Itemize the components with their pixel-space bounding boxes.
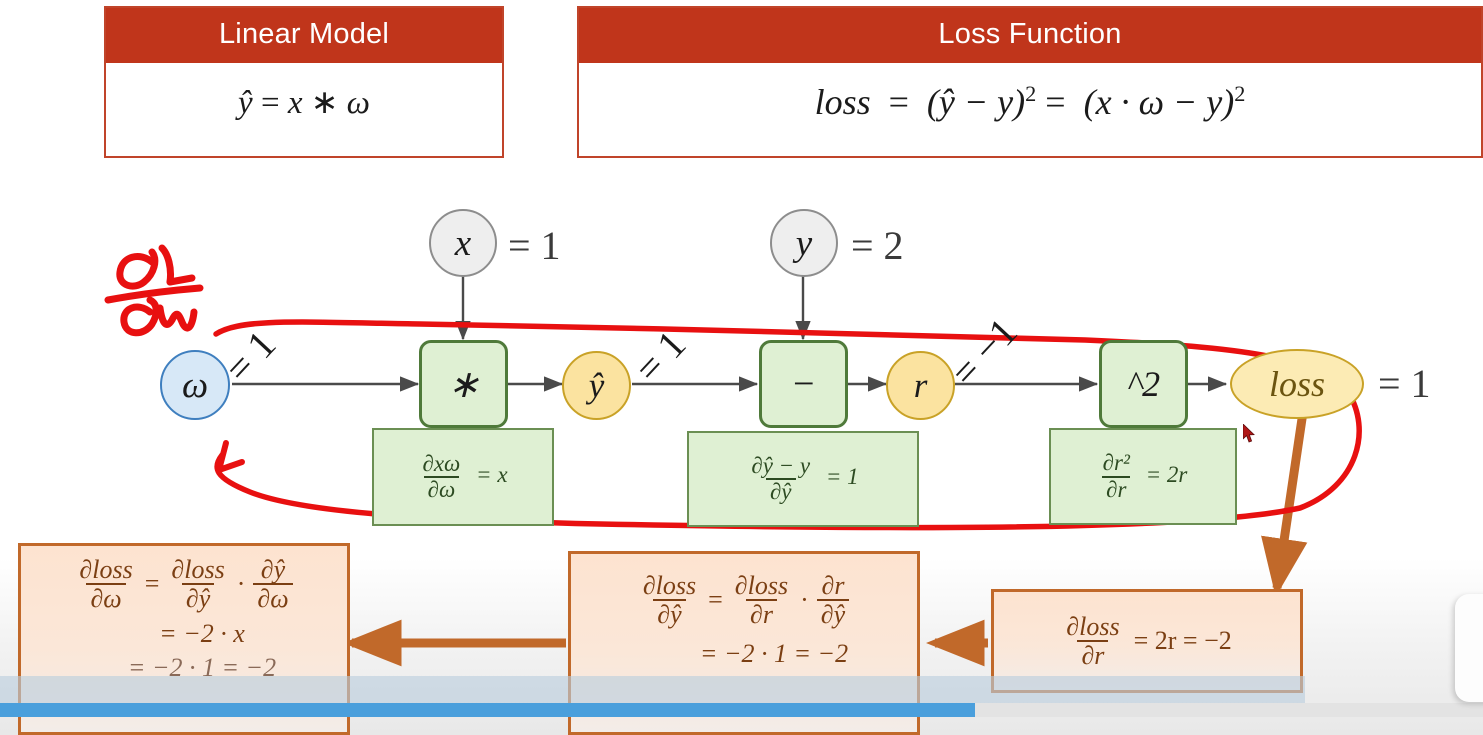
chain-omega-f1-num: ∂loss	[167, 556, 228, 583]
node-x-label: x	[455, 222, 471, 265]
loss-expr1: (ŷ − y)	[927, 82, 1025, 122]
d-sub-rhs: = 1	[826, 464, 859, 489]
d-sub-den: ∂ŷ	[766, 478, 796, 504]
d-pow-den: ∂r	[1102, 476, 1130, 502]
node-loss-value: = 1	[1378, 360, 1431, 407]
formula-omega: ω	[347, 85, 370, 121]
op-node-square[interactable]: ^2	[1099, 340, 1188, 428]
op-node-subtract[interactable]: −	[759, 340, 848, 428]
op-square-label: ^2	[1127, 363, 1160, 405]
loss-function-formula: loss = (ŷ − y)2 = (x · ω − y)2	[579, 63, 1481, 141]
node-y-value: = 2	[851, 222, 904, 269]
chain-r-rhs: = 2r = −2	[1134, 626, 1232, 656]
linear-model-formula: ŷ = x ∗ ω	[106, 63, 502, 141]
chain-omega-f2-num: ∂ŷ	[257, 556, 289, 583]
chain-yhat-f1-den: ∂r	[746, 599, 777, 628]
derivative-box-sub: ∂ŷ − y ∂ŷ = 1	[687, 431, 919, 527]
chain-yhat-lhs-den: ∂ŷ	[653, 599, 685, 628]
derivative-box-pow: ∂r² ∂r = 2r	[1049, 428, 1237, 525]
loss-exp2: 2	[1234, 81, 1245, 106]
chain-yhat-dot: ·	[800, 585, 809, 615]
handwritten-gradient-annotation: ∂L/∂ω	[100, 238, 210, 348]
op-subtract-label: −	[791, 362, 817, 406]
chain-yhat-eq: =	[708, 585, 723, 615]
node-input-y[interactable]: y	[770, 209, 838, 277]
progress-bar-fill[interactable]	[0, 703, 975, 717]
side-panel-edge[interactable]	[1455, 594, 1483, 702]
chain-yhat-f1-num: ∂loss	[731, 572, 792, 599]
loss-lhs: loss	[815, 82, 871, 122]
node-loss-label: loss	[1269, 363, 1325, 405]
node-x-value: = 1	[508, 222, 561, 269]
node-omega-label: ω	[182, 364, 208, 407]
d-mul-num: ∂xω	[418, 452, 464, 476]
chain-omega-lhs-den: ∂ω	[86, 583, 125, 612]
mouse-cursor	[1243, 424, 1257, 444]
node-r-label: r	[914, 366, 928, 406]
derivative-box-mul: ∂xω ∂ω = x	[372, 428, 554, 526]
formula-lhs: ŷ	[238, 85, 253, 121]
chain-yhat-lhs-num: ∂loss	[639, 572, 700, 599]
loss-function-header: Loss Function	[579, 8, 1481, 63]
d-pow-num: ∂r²	[1099, 451, 1134, 475]
chain-omega-dot: ·	[237, 569, 246, 599]
formula-op: ∗	[311, 85, 339, 121]
formula-eq: =	[261, 85, 280, 121]
loss-exp1: 2	[1025, 81, 1036, 106]
chain-omega-f1-den: ∂ŷ	[182, 583, 214, 612]
chain-omega-f2-den: ∂ω	[253, 583, 292, 612]
audio-waveform-overlay	[0, 676, 1305, 704]
op-multiply-label: ∗	[448, 362, 480, 407]
linear-model-header: Linear Model	[106, 8, 502, 63]
d-mul-rhs: = x	[476, 462, 507, 487]
loss-expr2: (x · ω − y)	[1084, 82, 1235, 122]
node-yhat[interactable]: ŷ	[562, 351, 631, 420]
edge-label-grad-yhat: = 1	[625, 321, 695, 391]
loss-function-card: Loss Function loss = (ŷ − y)2 = (x · ω −…	[577, 6, 1483, 158]
node-output-loss[interactable]: loss	[1230, 349, 1364, 419]
node-input-x[interactable]: x	[429, 209, 497, 277]
chain-yhat-line2: = −2 · 1 = −2	[585, 639, 903, 669]
chain-omega-lhs-num: ∂loss	[75, 556, 136, 583]
chain-r-lhs-den: ∂r	[1077, 640, 1108, 669]
linear-model-card: Linear Model ŷ = x ∗ ω	[104, 6, 504, 158]
chain-r-lhs-num: ∂loss	[1062, 613, 1123, 640]
d-pow-rhs: = 2r	[1146, 462, 1188, 487]
d-sub-num: ∂ŷ − y	[747, 454, 814, 478]
slide-canvas: Linear Model ŷ = x ∗ ω Loss Function los…	[0, 0, 1483, 735]
node-y-label: y	[796, 222, 812, 265]
loss-eq1: =	[889, 82, 909, 122]
node-yhat-label: ŷ	[589, 366, 605, 406]
chain-omega-line2: = −2 · x	[35, 619, 333, 649]
chain-yhat-f2-num: ∂r	[817, 572, 848, 599]
chain-omega-eq: =	[145, 569, 160, 599]
d-mul-den: ∂ω	[424, 476, 460, 502]
op-node-multiply[interactable]: ∗	[419, 340, 508, 428]
chain-yhat-f2-den: ∂ŷ	[817, 599, 849, 628]
formula-x: x	[288, 85, 303, 121]
progress-bar-track[interactable]	[975, 703, 1483, 717]
loss-eq2: =	[1045, 82, 1065, 122]
